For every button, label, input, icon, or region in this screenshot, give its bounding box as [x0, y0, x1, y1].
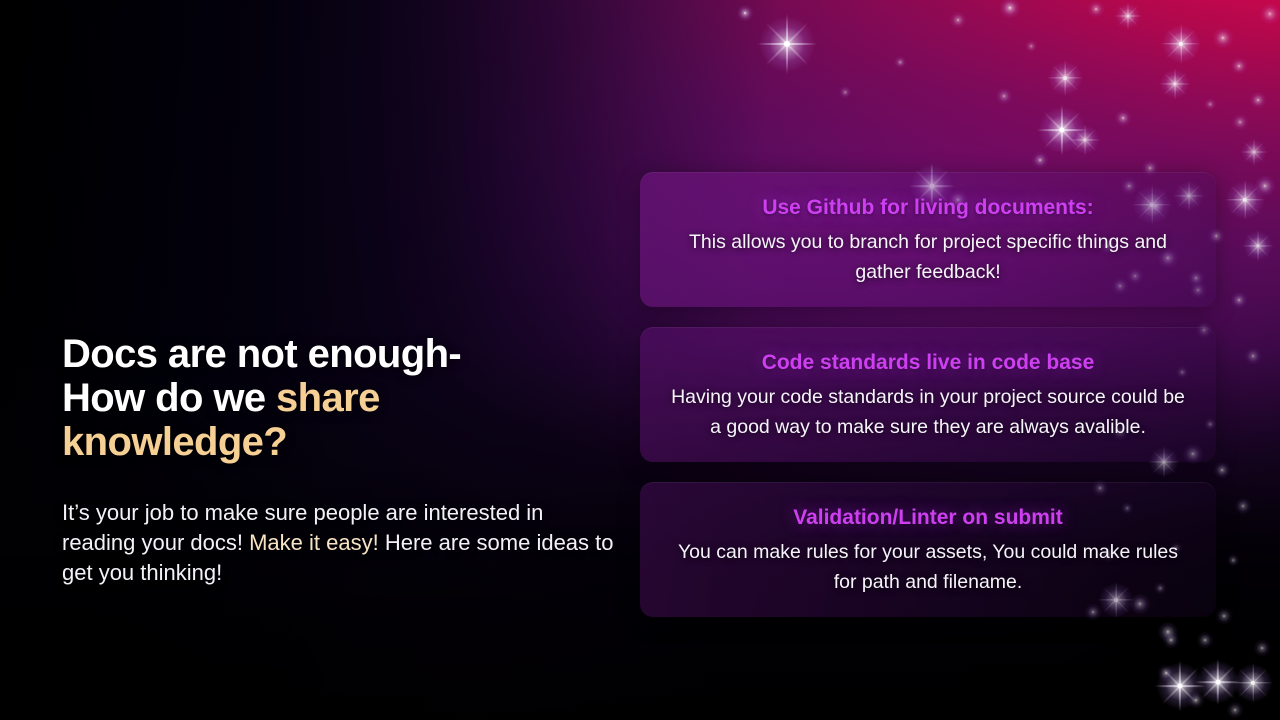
star-core: [1149, 167, 1151, 169]
star-halo: [1231, 58, 1248, 75]
star-core: [1216, 680, 1221, 685]
star-core: [1173, 82, 1176, 85]
idea-card-validation-linter[interactable]: Validation/Linter on submit You can make…: [640, 482, 1216, 617]
star-ray: [1118, 6, 1138, 26]
star-ray: [1161, 667, 1198, 704]
star-ray: [1037, 129, 1088, 131]
star-ray: [1195, 681, 1241, 683]
star-halo: [1234, 664, 1272, 702]
star-halo: [760, 17, 815, 72]
star-ray: [1052, 65, 1079, 92]
star-core: [744, 12, 746, 14]
star-ray: [1064, 60, 1065, 97]
star-halo: [1197, 661, 1239, 703]
star-halo: [1162, 25, 1200, 63]
star-halo: [996, 88, 1013, 105]
star-core: [1165, 672, 1167, 674]
star-ray: [1166, 29, 1196, 59]
star-core: [1167, 631, 1169, 633]
star-core: [899, 61, 901, 63]
star-core: [1030, 45, 1032, 47]
star-core: [1261, 647, 1263, 649]
star-halo: [1197, 632, 1214, 649]
star-halo: [1039, 107, 1085, 153]
star-ray: [1155, 685, 1206, 687]
star-ray: [1069, 139, 1101, 140]
star-ray: [1179, 661, 1181, 712]
star-core: [1003, 95, 1005, 97]
star-halo: [1158, 622, 1179, 643]
star-halo: [1227, 554, 1240, 567]
star-ray: [1114, 16, 1142, 17]
star-ray: [1238, 668, 1268, 698]
star-ray: [1246, 234, 1270, 258]
headline-line-1: Docs are not enough-: [62, 332, 461, 376]
star-core: [1009, 7, 1011, 9]
star-halo: [1115, 3, 1140, 28]
star-ray: [1052, 65, 1079, 92]
idea-card-title: Use Github for living documents:: [666, 194, 1190, 222]
star-core: [1242, 505, 1244, 507]
star-ray: [1128, 2, 1129, 30]
star-core: [1221, 469, 1223, 471]
star-halo: [1241, 139, 1266, 164]
star-halo: [1226, 181, 1264, 219]
star-ray: [1163, 72, 1187, 96]
star-ray: [1201, 665, 1235, 699]
star-core: [1204, 639, 1206, 641]
star-core: [1257, 99, 1259, 101]
star-core: [1122, 117, 1124, 119]
idea-card-code-standards[interactable]: Code standards live in code base Having …: [640, 327, 1216, 462]
idea-card-list: Use Github for living documents: This al…: [640, 172, 1216, 617]
star-core: [1059, 127, 1064, 132]
star-halo: [1231, 292, 1248, 309]
star-halo: [1214, 462, 1231, 479]
star-ray: [1217, 659, 1219, 705]
star-halo: [1048, 61, 1082, 95]
headline-accent-share: share: [276, 376, 380, 420]
star-ray: [757, 43, 817, 45]
star-core: [1179, 42, 1183, 46]
star-halo: [1204, 98, 1217, 111]
star-core: [1039, 159, 1041, 161]
star-ray: [1257, 230, 1258, 262]
idea-card-body: Having your code standards in your proje…: [666, 382, 1190, 442]
subcopy-accent-make-it-easy: Make it easy!: [249, 530, 379, 555]
page-title: Docs are not enough- How do we share kno…: [62, 332, 622, 464]
star-halo: [1032, 152, 1049, 169]
star-ray: [1254, 138, 1255, 166]
star-core: [1177, 683, 1182, 688]
star-halo: [950, 12, 967, 29]
star-ray: [1240, 152, 1268, 153]
star-halo: [1232, 114, 1249, 131]
star-core: [1083, 138, 1086, 141]
star-ray: [1047, 77, 1084, 78]
subcopy-paragraph: It’s your job to make sure people are in…: [62, 498, 622, 588]
star-halo: [1157, 663, 1203, 709]
star-core: [1239, 121, 1241, 123]
star-halo: [1260, 4, 1280, 25]
star-ray: [1159, 83, 1191, 84]
star-halo: [1255, 176, 1276, 197]
star-ray: [1043, 111, 1080, 148]
star-halo: [1254, 640, 1271, 657]
star-halo: [1115, 110, 1132, 127]
star-halo: [1243, 231, 1272, 260]
star-core: [1127, 15, 1130, 18]
idea-card-title: Validation/Linter on submit: [666, 504, 1190, 532]
star-ray: [1160, 43, 1201, 44]
star-halo: [1213, 28, 1234, 49]
star-core: [1222, 37, 1224, 39]
star-core: [1238, 299, 1240, 301]
star-halo: [1216, 608, 1233, 625]
star-ray: [1242, 245, 1274, 246]
slide-canvas: Docs are not enough- How do we share kno…: [0, 0, 1280, 720]
star-halo: [1163, 632, 1180, 649]
star-halo: [894, 56, 907, 69]
star-ray: [1230, 185, 1260, 215]
star-ray: [1230, 185, 1260, 215]
star-ray: [1180, 23, 1181, 64]
star-halo: [839, 86, 852, 99]
star-halo: [737, 5, 754, 22]
headline-line-2-plain: How do we: [62, 376, 276, 420]
star-core: [1063, 76, 1067, 80]
star-ray: [1201, 665, 1235, 699]
headline-accent-knowledge: knowledge?: [62, 420, 287, 464]
star-ray: [1073, 128, 1097, 152]
star-core: [1256, 244, 1259, 247]
star-ray: [1161, 667, 1198, 704]
idea-card-title: Code standards live in code base: [666, 349, 1190, 377]
star-ray: [1084, 124, 1085, 156]
star-core: [1223, 615, 1225, 617]
star-halo: [1235, 498, 1252, 515]
star-core: [1253, 151, 1256, 154]
star-ray: [1166, 29, 1196, 59]
star-core: [1170, 639, 1172, 641]
star-ray: [1232, 682, 1273, 683]
star-ray: [1244, 142, 1264, 162]
star-ray: [1244, 142, 1264, 162]
star-ray: [1244, 179, 1245, 220]
star-core: [1269, 13, 1271, 15]
star-ray: [1118, 6, 1138, 26]
star-ray: [1163, 72, 1187, 96]
star-core: [1252, 355, 1254, 357]
star-core: [1232, 559, 1234, 561]
star-halo: [1227, 702, 1244, 719]
idea-card-body: You can make rules for your assets, You …: [666, 537, 1190, 597]
star-core: [1238, 65, 1240, 67]
star-ray: [1238, 668, 1268, 698]
star-core: [957, 19, 959, 21]
star-core: [1095, 8, 1097, 10]
star-core: [1264, 185, 1266, 187]
idea-card-body: This allows you to branch for project sp…: [666, 227, 1190, 287]
star-ray: [1224, 199, 1265, 200]
star-halo: [1070, 125, 1099, 154]
star-halo: [1158, 665, 1175, 682]
star-core: [784, 41, 790, 47]
star-core: [1251, 681, 1255, 685]
star-core: [844, 91, 846, 93]
idea-card-github[interactable]: Use Github for living documents: This al…: [640, 172, 1216, 307]
star-core: [1195, 699, 1197, 701]
star-halo: [1000, 0, 1021, 19]
star-core: [1209, 103, 1211, 105]
star-ray: [1073, 128, 1097, 152]
star-ray: [1061, 105, 1063, 156]
star-ray: [1252, 662, 1253, 703]
left-text-column: Docs are not enough- How do we share kno…: [62, 332, 622, 588]
star-halo: [1245, 348, 1262, 365]
star-ray: [765, 22, 809, 66]
star-ray: [1043, 111, 1080, 148]
star-ray: [765, 22, 809, 66]
star-halo: [1250, 92, 1267, 109]
star-halo: [1160, 69, 1189, 98]
star-halo: [1025, 40, 1038, 53]
star-ray: [1246, 234, 1270, 258]
star-ray: [1174, 68, 1175, 100]
star-halo: [1088, 1, 1105, 18]
star-ray: [786, 14, 788, 74]
star-halo: [1188, 692, 1205, 709]
star-core: [1234, 709, 1236, 711]
star-core: [1243, 198, 1247, 202]
